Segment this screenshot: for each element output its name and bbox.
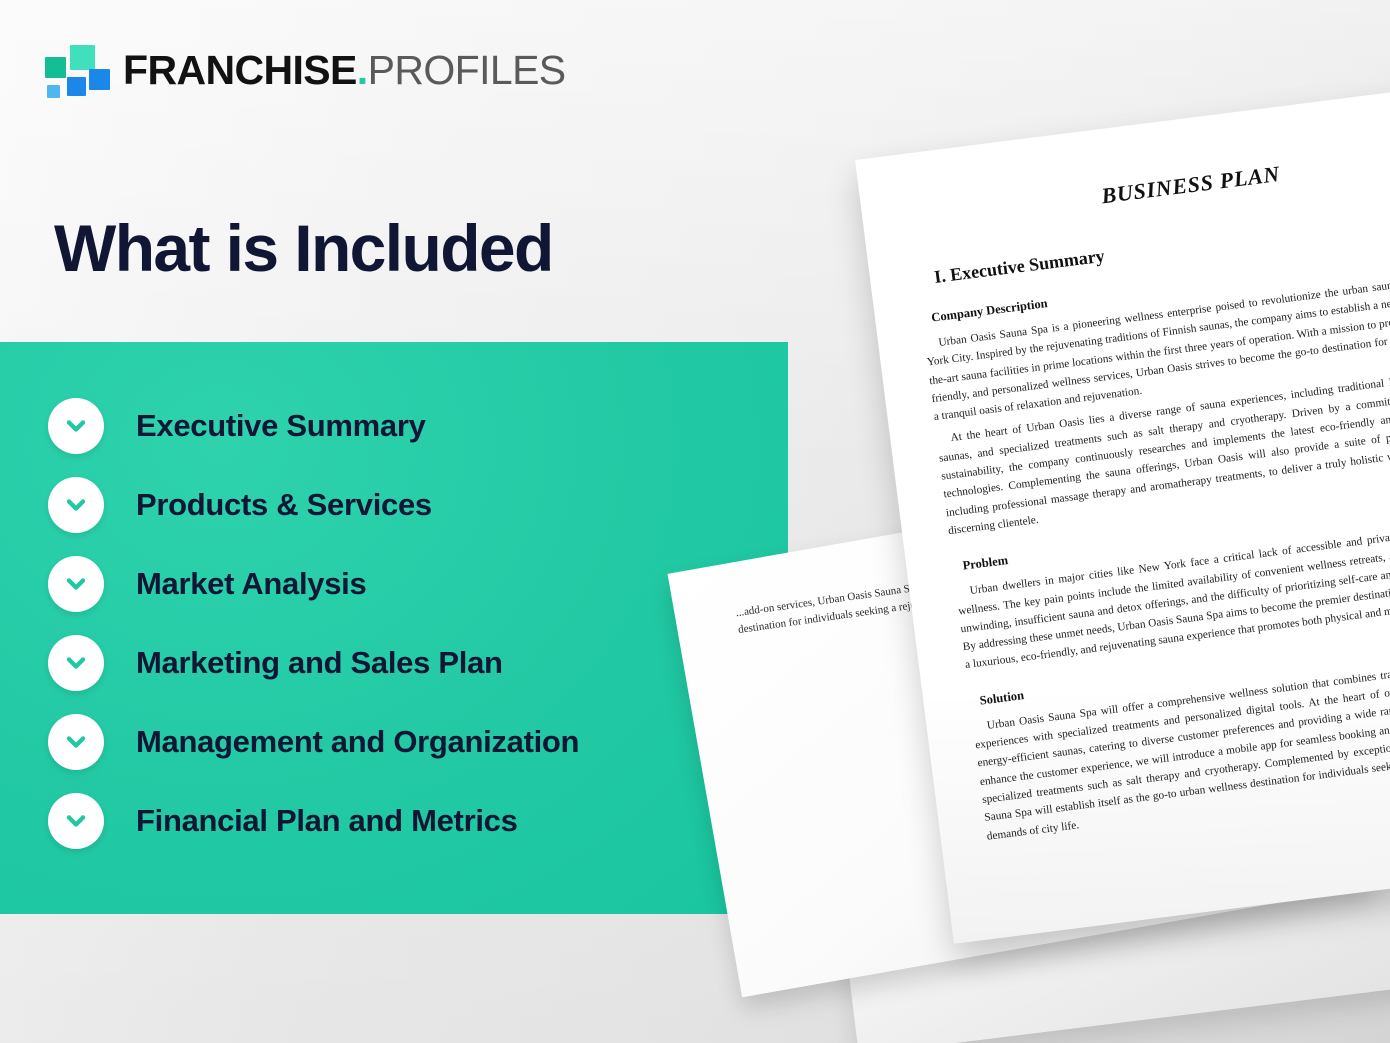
included-list: Executive Summary Products & Services Ma… <box>48 398 579 849</box>
list-item-label: Marketing and Sales Plan <box>136 645 503 681</box>
chevron-down-icon <box>48 477 104 533</box>
brand-wordmark: FRANCHISE.PROFILES <box>123 50 566 91</box>
brand-name-dot: . <box>357 47 368 93</box>
list-item[interactable]: Management and Organization <box>48 714 579 770</box>
list-item-label: Financial Plan and Metrics <box>136 803 518 839</box>
document-stack: ...add-on services, Urban Oasis Sauna Sp… <box>690 120 1390 1043</box>
list-item-label: Executive Summary <box>136 408 426 444</box>
chevron-down-icon <box>48 714 104 770</box>
list-item[interactable]: Products & Services <box>48 477 579 533</box>
brand-name-bold: FRANCHISE <box>123 47 357 93</box>
list-item[interactable]: Executive Summary <box>48 398 579 454</box>
list-item-label: Products & Services <box>136 487 432 523</box>
chevron-down-icon <box>48 556 104 612</box>
list-item-label: Management and Organization <box>136 724 579 760</box>
chevron-down-icon <box>48 635 104 691</box>
list-item[interactable]: Market Analysis <box>48 556 579 612</box>
chevron-down-icon <box>48 398 104 454</box>
page-title: What is Included <box>54 214 553 283</box>
squares-cluster-icon <box>45 44 103 96</box>
list-item-label: Market Analysis <box>136 566 366 602</box>
brand-name-thin: PROFILES <box>368 47 566 93</box>
brand-logo[interactable]: FRANCHISE.PROFILES <box>45 44 566 96</box>
list-item[interactable]: Marketing and Sales Plan <box>48 635 579 691</box>
list-item[interactable]: Financial Plan and Metrics <box>48 793 579 849</box>
chevron-down-icon <box>48 793 104 849</box>
